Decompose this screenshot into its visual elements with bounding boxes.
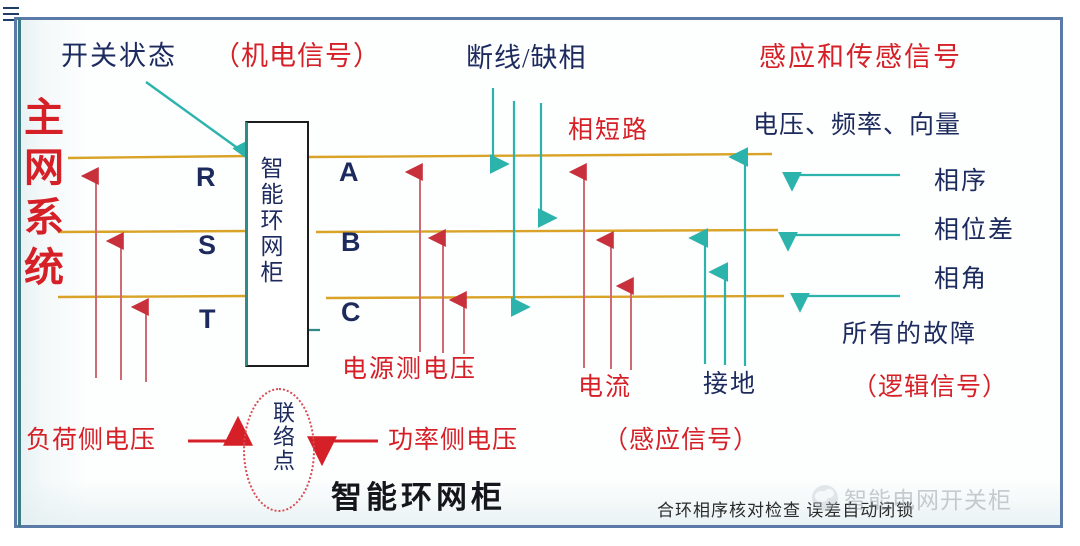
broken-line-arrows: [493, 88, 541, 307]
current-label: 电流: [578, 375, 632, 400]
current-arrows: [584, 172, 631, 370]
grounding-label: 接地: [703, 372, 757, 397]
sensing-signal-title: 感应和传感信号: [759, 44, 962, 71]
bus-lines-left: [58, 156, 250, 297]
phase-difference-label: 相位差: [934, 218, 1015, 243]
bottom-title: 智能环网柜: [331, 482, 506, 513]
phase-short-circuit-label: 相短路: [568, 118, 649, 143]
phase-sequence-label: 相序: [934, 169, 988, 194]
phase-letter-c: C: [341, 299, 361, 326]
phase-letter-b: B: [341, 229, 361, 256]
all-faults-label: 所有的故障: [842, 322, 977, 347]
switch-state-label: 开关状态: [61, 43, 177, 70]
phase-letter-r: R: [196, 164, 216, 191]
bus-lines-right: [308, 154, 784, 298]
wechat-badge-icon: [812, 485, 838, 511]
electromechanical-signal-label: （机电信号）: [213, 43, 381, 70]
logic-signal-label: （逻辑信号）: [852, 375, 1008, 400]
power-side-voltage-label: 功率侧电压: [388, 428, 518, 453]
load-side-voltage-label: 负荷侧电压: [26, 428, 156, 453]
source-side-voltage-label: 电源测电压: [342, 357, 477, 382]
phase-measure-arrows: [788, 175, 900, 296]
phase-letter-t: T: [199, 306, 216, 333]
phase-letter-a: A: [339, 159, 359, 186]
voltage-frequency-vector-label: 电压、频率、向量: [753, 113, 961, 138]
grounding-arrows: [705, 157, 745, 366]
induction-signal-label: （感应信号）: [603, 428, 759, 453]
main-grid-system-label: 主网系统: [20, 96, 60, 296]
switch-state-arrow: [146, 82, 243, 152]
broken-line-phase-loss-label: 断线/缺相: [466, 45, 587, 72]
phase-letter-s: S: [198, 232, 216, 259]
load-side-voltage-arrows: [96, 176, 146, 382]
phase-angle-label: 相角: [934, 267, 988, 292]
watermark: 智能电网开关柜: [812, 481, 1012, 515]
source-side-voltage-arrows: [420, 172, 464, 354]
diagram-canvas: 智能环网柜 联络点 主网系统 开关状态 （机电信号） 断线/缺相 感应和传感信号…: [0, 0, 1080, 546]
watermark-text: 智能电网开关柜: [844, 481, 1012, 515]
diagram-lines-layer: [0, 0, 1080, 546]
tie-point-label: 联络点: [266, 401, 298, 473]
cabinet-box-label: 智能环网柜: [252, 156, 286, 286]
